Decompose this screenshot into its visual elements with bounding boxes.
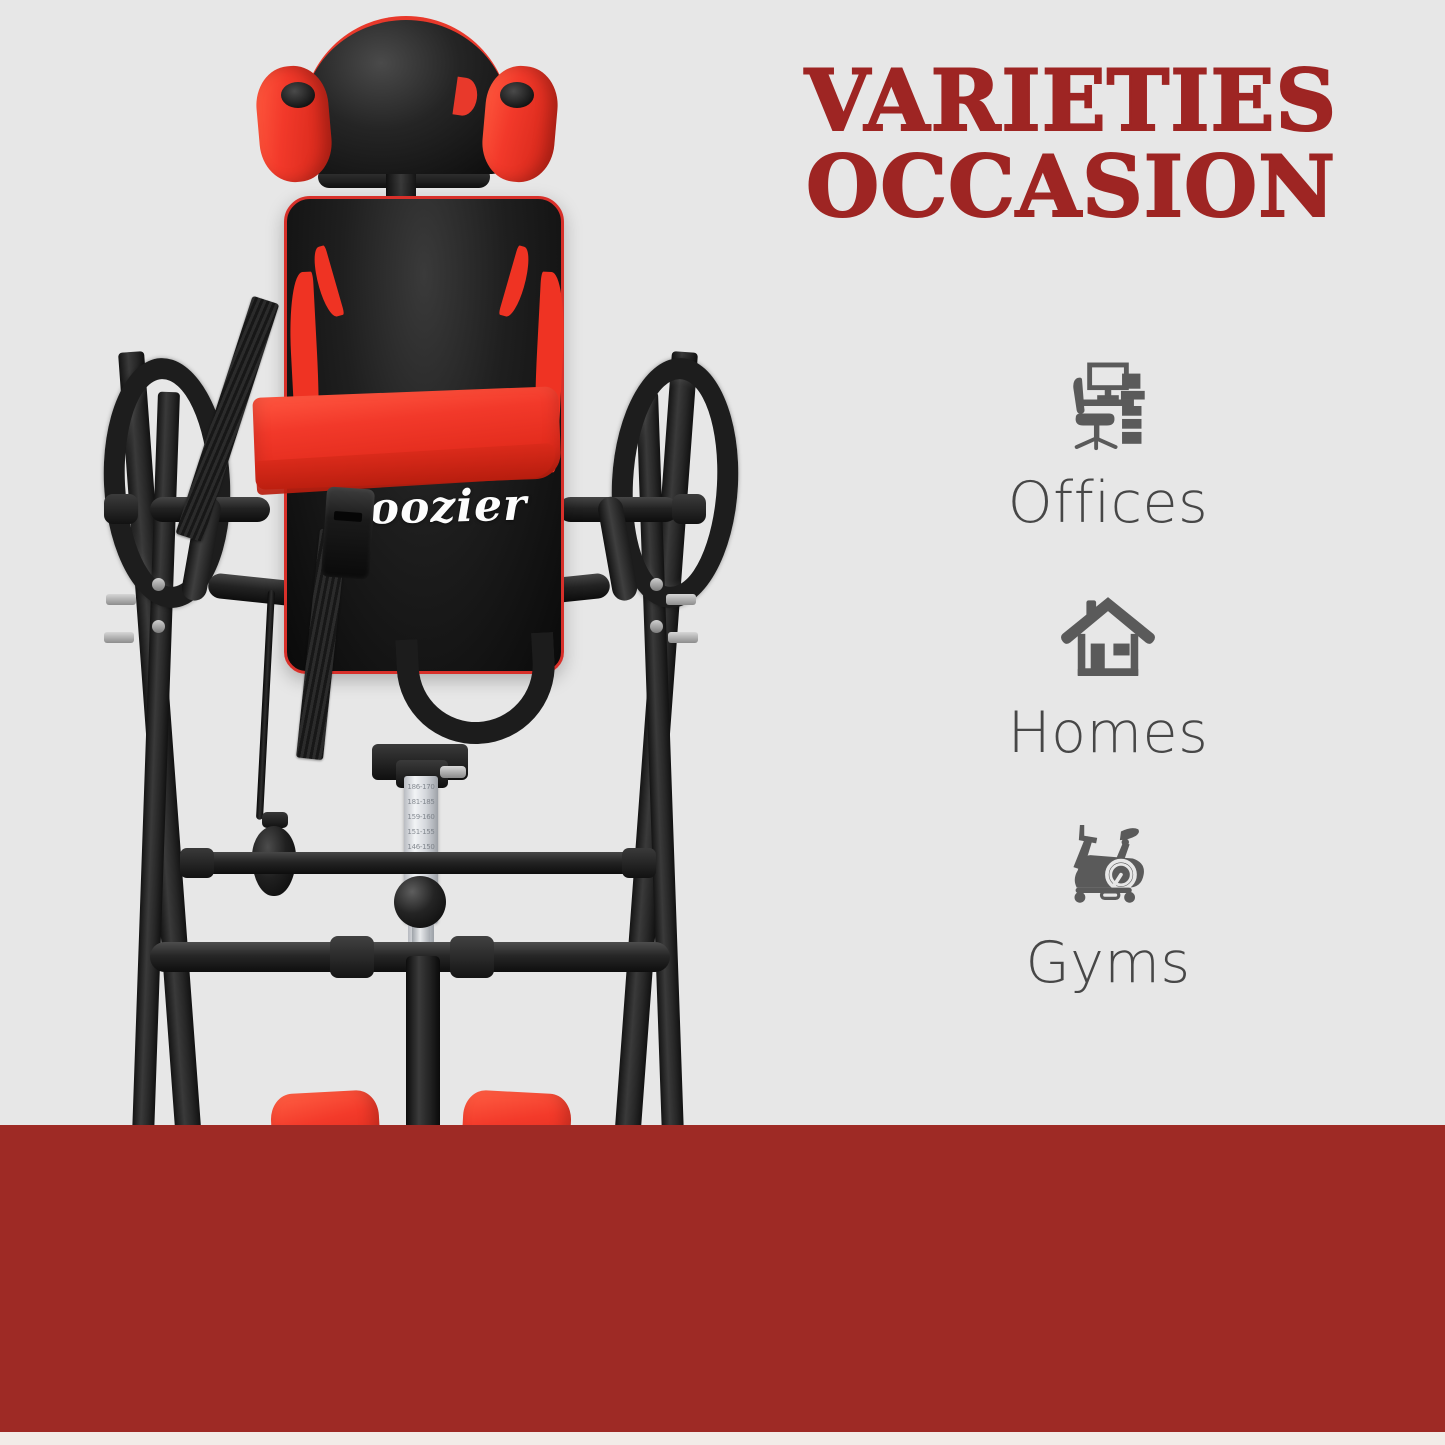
height-scale-tick: 146-150 bbox=[404, 844, 438, 851]
height-scale-tick: 151-155 bbox=[404, 829, 438, 836]
height-scale-bolt bbox=[440, 766, 466, 778]
use-case-label-gyms: Gyms bbox=[862, 934, 1354, 994]
floor-color-band bbox=[0, 1125, 1445, 1432]
use-case-label-homes: Homes bbox=[862, 704, 1354, 764]
head-roller-left-cap bbox=[281, 82, 315, 108]
grab-handle-left-end-cap bbox=[104, 494, 138, 524]
pin-dot-right-b bbox=[650, 620, 663, 633]
headline-line-1: VARIETIES bbox=[805, 51, 1337, 150]
mid-crossbar-knuckle-right bbox=[450, 936, 494, 978]
office-desk-icon bbox=[862, 352, 1354, 460]
head-roller-right-cap bbox=[500, 82, 534, 108]
mid-crossbar-knuckle-left bbox=[330, 936, 374, 978]
use-case-item-gyms: Gyms bbox=[862, 812, 1354, 994]
safety-strap-loop bbox=[395, 632, 558, 748]
pin-dot-right-a bbox=[650, 578, 663, 591]
adjustment-pin-right-upper bbox=[666, 594, 696, 605]
pin-dot-left-a bbox=[152, 578, 165, 591]
exercise-bike-icon bbox=[862, 812, 1354, 920]
use-case-item-offices: Offices bbox=[862, 352, 1354, 534]
height-scale-tick: 159-160 bbox=[404, 814, 438, 821]
use-case-label-offices: Offices bbox=[862, 474, 1354, 534]
grab-handle-right-end-cap bbox=[672, 494, 706, 524]
pin-dot-left-b bbox=[152, 620, 165, 633]
adjustment-pin-right-lower bbox=[668, 632, 698, 643]
product-marketing-banner: Soozier 186-170181-185159-160151-155146-… bbox=[0, 0, 1445, 1445]
height-scale-tick: 186-170 bbox=[404, 784, 438, 791]
upper-crossbar-cap-right bbox=[622, 848, 656, 878]
house-icon bbox=[862, 582, 1354, 690]
adjustment-pin-left-lower bbox=[104, 632, 134, 643]
page-title: VARIETIES OCCASION bbox=[735, 58, 1407, 229]
headrest-pad bbox=[302, 16, 510, 174]
upper-crossbar-cap-left bbox=[180, 848, 214, 878]
height-scale-tick: 181-185 bbox=[404, 799, 438, 806]
air-pump-tube bbox=[256, 590, 275, 820]
use-case-list: Offices Homes bbox=[862, 352, 1354, 994]
ball-locking-knob bbox=[394, 876, 446, 928]
upper-crossbar bbox=[195, 852, 635, 874]
headline-line-2: OCCASION bbox=[735, 144, 1407, 230]
bottom-edge-strip bbox=[0, 1432, 1445, 1445]
safety-strap-buckle-slot bbox=[334, 511, 363, 522]
adjustment-pin-left-upper bbox=[106, 594, 136, 605]
use-case-item-homes: Homes bbox=[862, 582, 1354, 764]
safety-strap-buckle bbox=[321, 486, 375, 579]
